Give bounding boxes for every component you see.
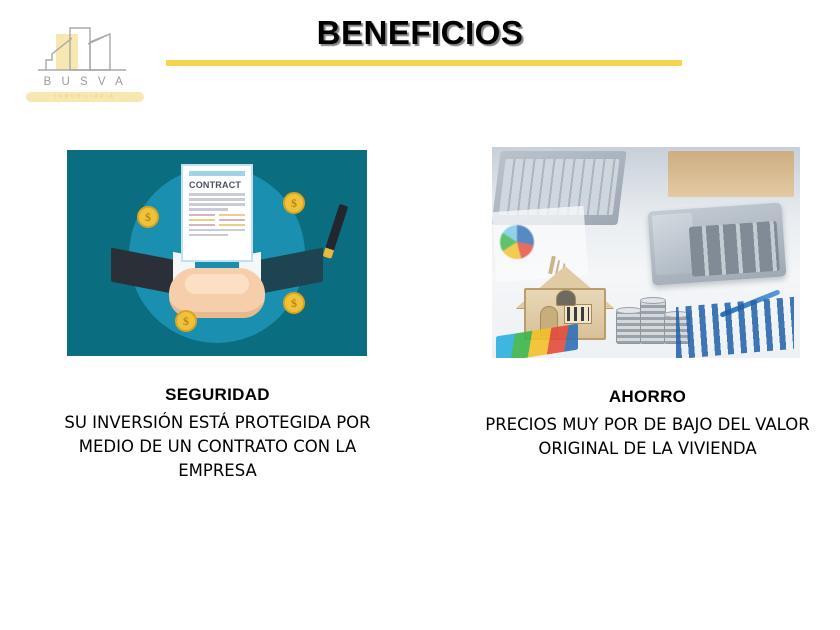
- contract-field: [219, 214, 245, 217]
- contract-field: [189, 224, 215, 227]
- benefit-description-ahorro: PRECIOS MUY POR DE BAJO DEL VALOR ORIGIN…: [455, 413, 840, 461]
- pen-icon: [325, 204, 348, 252]
- contract-field: [189, 214, 215, 217]
- coin-icon: $: [137, 206, 159, 228]
- contract-text-line: [189, 193, 245, 196]
- contract-document-icon: CONTRACT: [181, 164, 253, 262]
- benefit-description-seguridad: SU INVERSIÓN ESTÁ PROTEGIDA POR MEDIO DE…: [40, 411, 395, 483]
- benefit-heading-seguridad: SEGURIDAD: [40, 385, 395, 405]
- contract-columns: [189, 214, 245, 229]
- house-attic-window: [556, 290, 576, 306]
- contract-text-line: [189, 203, 245, 206]
- calculator-keypad: [689, 221, 780, 277]
- coin-icon: $: [175, 310, 197, 332]
- logo-wordmark: B U S V A: [26, 76, 144, 88]
- title-underline-rule: [166, 60, 682, 66]
- benefit-heading-ahorro: AHORRO: [455, 387, 840, 407]
- house-calculator-photo: [492, 147, 800, 358]
- contract-text-line: [189, 234, 228, 237]
- contract-title: CONTRACT: [189, 180, 245, 190]
- contract-field: [219, 224, 245, 227]
- benefit-column-ahorro: AHORRO PRECIOS MUY POR DE BAJO DEL VALOR…: [455, 147, 840, 461]
- contract-header-bar: [189, 171, 245, 176]
- contract-column-right: [219, 214, 245, 229]
- coin-icon: $: [283, 292, 305, 314]
- pie-chart-graphic: [500, 225, 534, 259]
- contract-text-line: [189, 208, 228, 211]
- contract-field: [189, 219, 215, 222]
- calculator: [648, 202, 787, 285]
- logo-tagline: INMOBILIARIA: [26, 92, 144, 102]
- coin-stack: [640, 300, 666, 344]
- contract-field: [219, 219, 245, 222]
- coin-icon: $: [283, 192, 305, 214]
- handshake-contract-illustration: CONTRACT $ $ $: [67, 150, 367, 356]
- house-window: [564, 304, 592, 324]
- slide-title: BENEFICIOS: [0, 14, 840, 52]
- coin-stack: [616, 310, 642, 344]
- benefit-column-seguridad: CONTRACT $ $ $: [40, 147, 395, 483]
- wood-surface: [668, 151, 794, 197]
- contract-column-left: [189, 214, 215, 229]
- contract-text-line: [189, 198, 245, 201]
- contract-text-line: [189, 229, 245, 232]
- bar-chart-graphic: [676, 297, 794, 358]
